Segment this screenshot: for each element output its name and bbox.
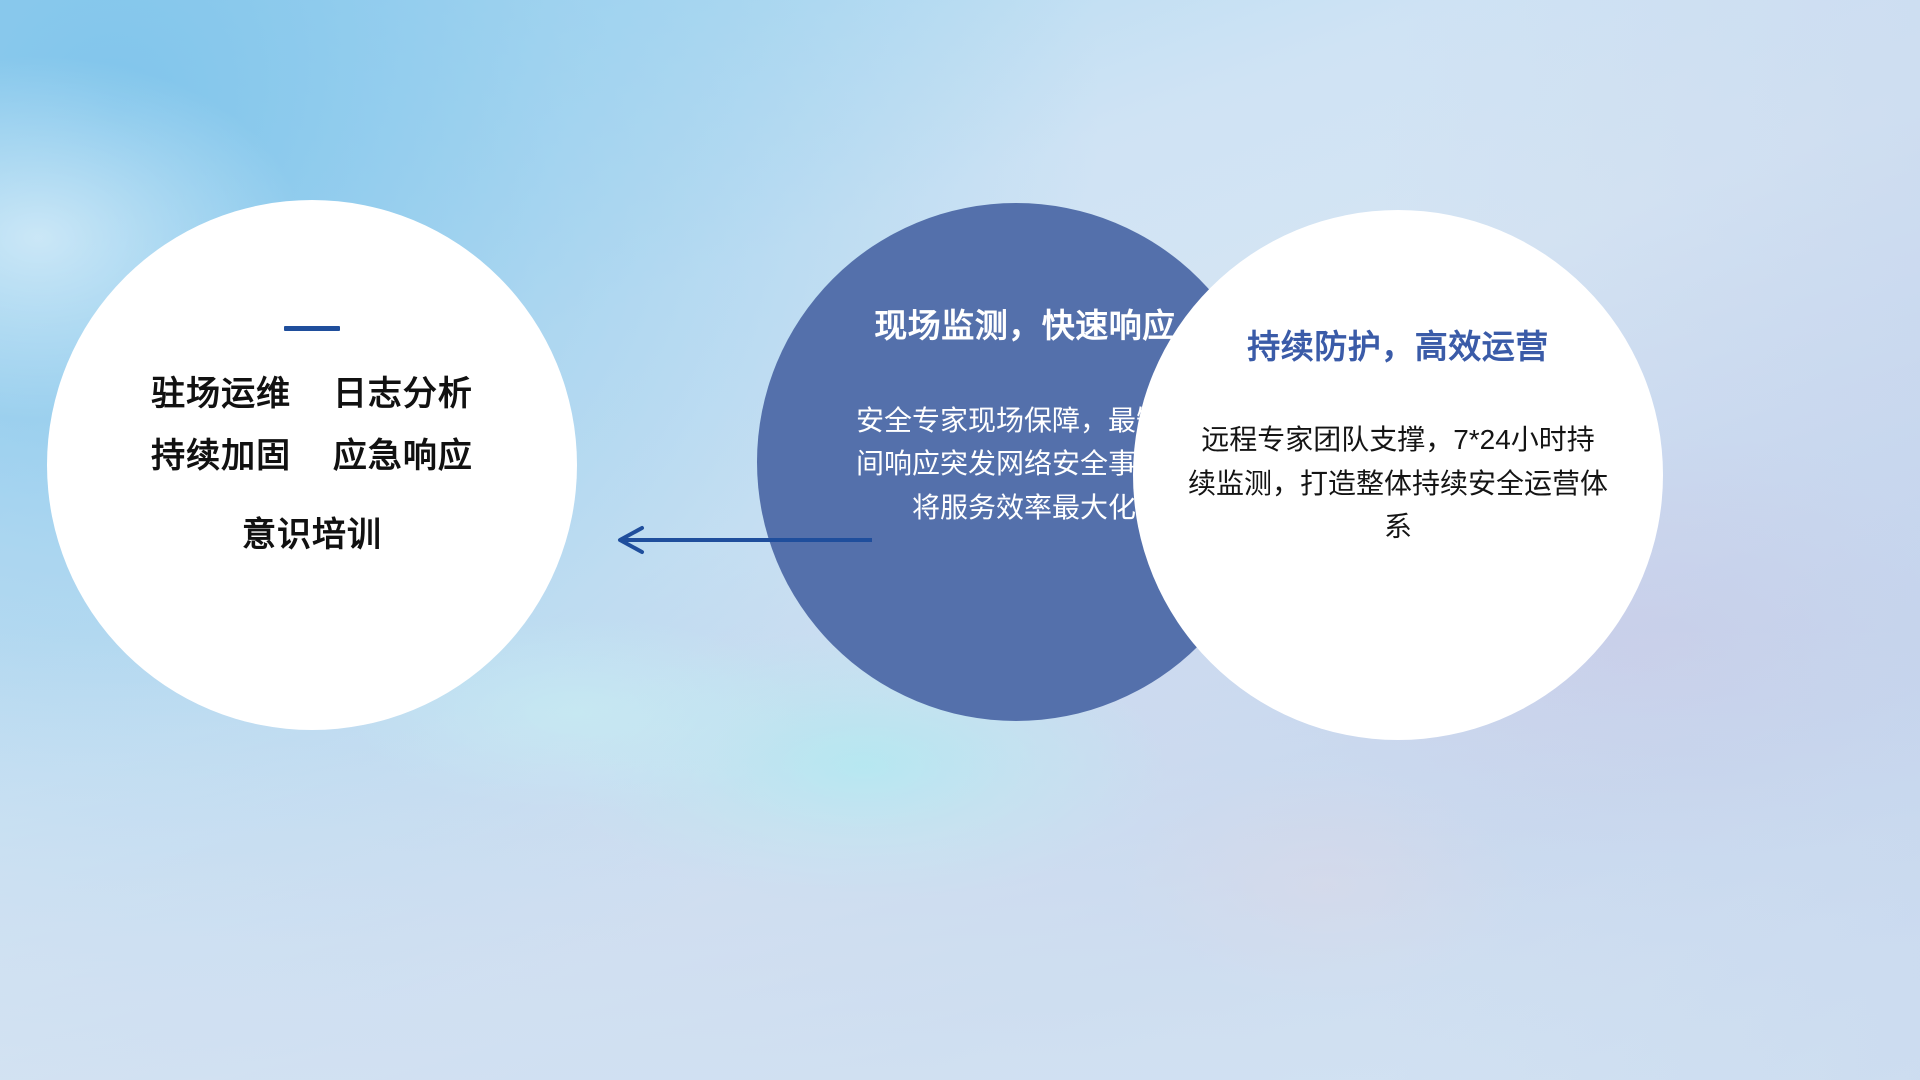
- divider-dash-icon: [284, 326, 340, 331]
- service-capabilities-line-3: 意识培训: [242, 518, 382, 554]
- slide-canvas: 现场监测，快速响应 安全专家现场保障，最短时间响应突发网络安全事件，将服务效率最…: [0, 0, 1920, 1080]
- continuous-protection-body: 远程专家团队支撑，7*24小时持续监测，打造整体持续安全运营体系: [1188, 418, 1608, 549]
- left-arrow-connector: [600, 520, 880, 560]
- continuous-protection-title: 持续防护，高效运营: [1247, 320, 1549, 368]
- service-capabilities-circle[interactable]: 驻场运维 日志分析 持续加固 应急响应 意识培训: [47, 200, 577, 730]
- service-capabilities-line-2: 持续加固 应急响应: [151, 439, 473, 475]
- service-capabilities-content: 驻场运维 日志分析 持续加固 应急响应 意识培训: [47, 200, 577, 730]
- continuous-protection-content: 持续防护，高效运营 远程专家团队支撑，7*24小时持续监测，打造整体持续安全运营…: [1133, 210, 1663, 740]
- service-capabilities-line-1: 驻场运维 日志分析: [151, 377, 473, 413]
- onsite-monitoring-title: 现场监测，快速响应: [874, 299, 1176, 347]
- continuous-protection-circle[interactable]: 持续防护，高效运营 远程专家团队支撑，7*24小时持续监测，打造整体持续安全运营…: [1133, 210, 1663, 740]
